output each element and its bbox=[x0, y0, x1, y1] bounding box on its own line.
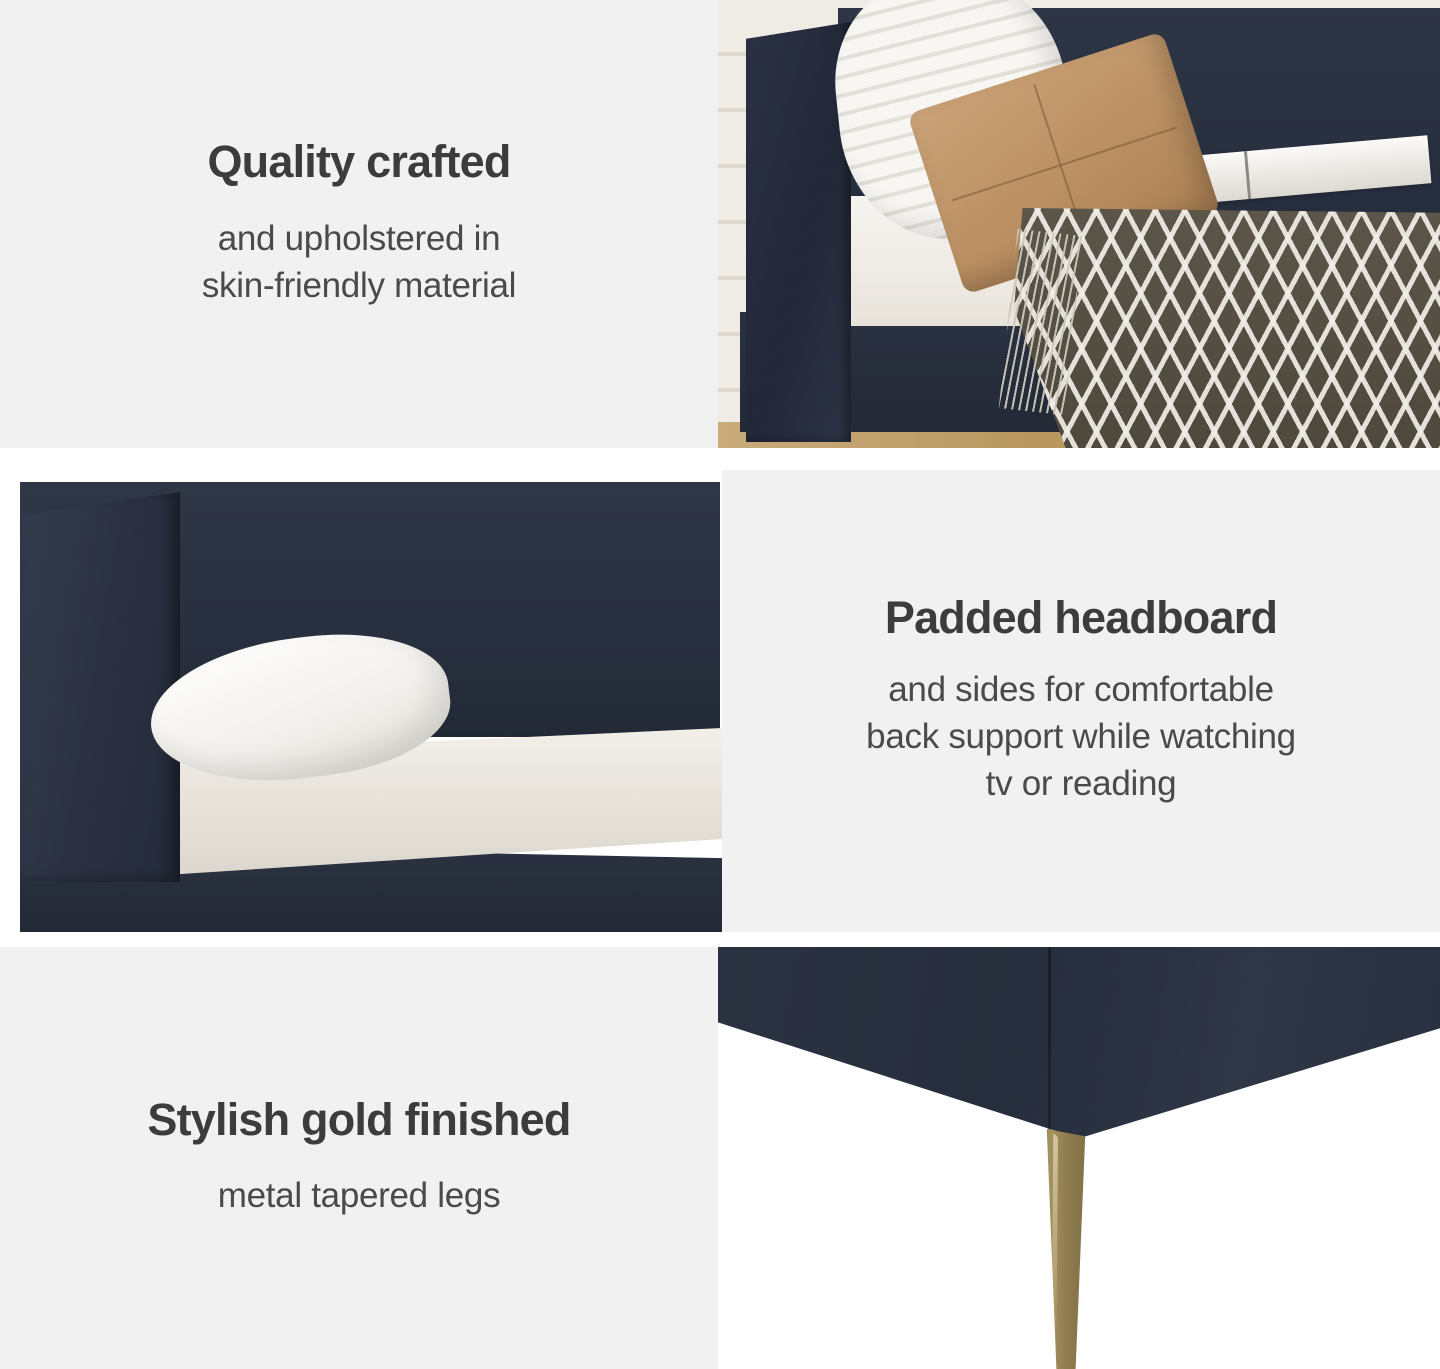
feature-body-line: and upholstered in bbox=[218, 219, 501, 258]
feature-text-quality-crafted: Quality crafted and upholstered in skin-… bbox=[0, 0, 718, 448]
feature-text-padded-headboard: Padded headboard and sides for comfortab… bbox=[722, 470, 1440, 932]
feature-body-line: back support while watching bbox=[866, 717, 1296, 756]
feature-body-line: and sides for comfortable bbox=[888, 670, 1273, 709]
fabric-seam bbox=[1048, 947, 1051, 1137]
feature-image-padded-headboard bbox=[0, 470, 722, 932]
feature-body-stylish-gold-finished: metal tapered legs bbox=[218, 1173, 501, 1220]
feature-heading-stylish-gold-finished: Stylish gold finished bbox=[147, 1096, 570, 1143]
feature-image-stylish-gold-finished bbox=[718, 947, 1440, 1369]
feature-body-line: tv or reading bbox=[986, 764, 1177, 803]
daybed-side-panel bbox=[20, 492, 180, 882]
feature-text-stylish-gold-finished: Stylish gold finished metal tapered legs bbox=[0, 947, 718, 1369]
feature-body-quality-crafted: and upholstered in skin-friendly materia… bbox=[202, 216, 516, 310]
feature-image-quality-crafted bbox=[718, 0, 1440, 448]
feature-body-line: skin-friendly material bbox=[202, 266, 516, 305]
infographic-sheet: Quality crafted and upholstered in skin-… bbox=[0, 0, 1440, 1369]
feature-body-padded-headboard: and sides for comfortable back support w… bbox=[866, 667, 1296, 808]
feature-heading-quality-crafted: Quality crafted bbox=[207, 138, 510, 185]
feature-body-line: metal tapered legs bbox=[218, 1176, 501, 1215]
feature-heading-padded-headboard: Padded headboard bbox=[885, 594, 1277, 641]
